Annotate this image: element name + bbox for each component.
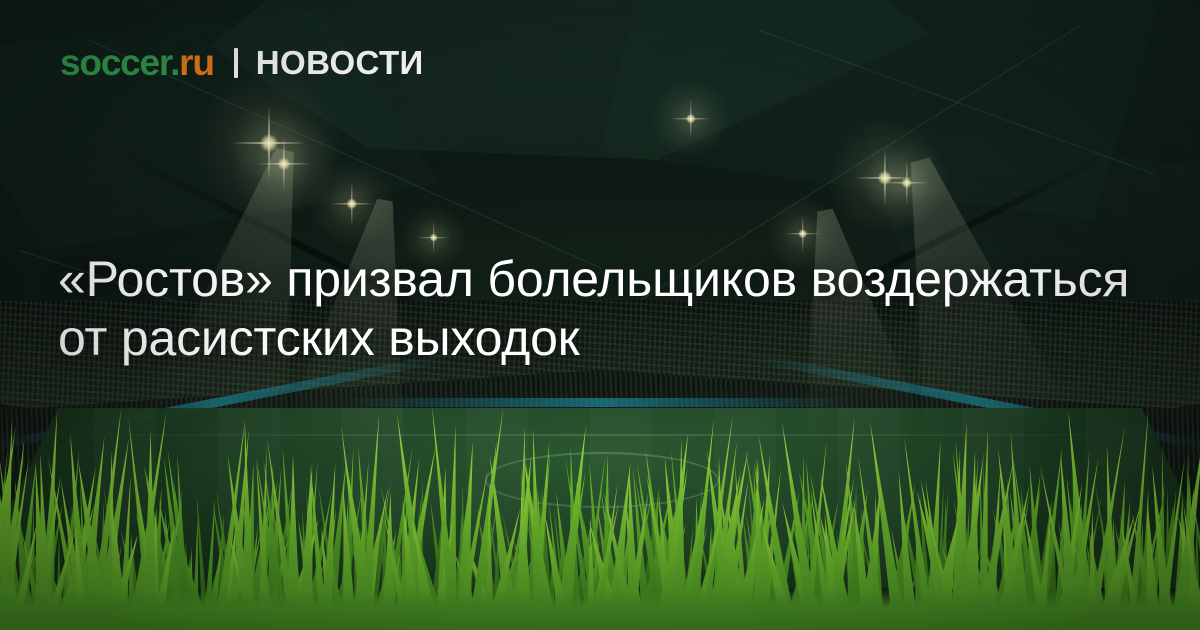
news-share-card: soccer.ru НОВОСТИ «Ростов» призвал болел… — [0, 0, 1200, 630]
section-label-news[interactable]: НОВОСТИ — [256, 46, 424, 79]
site-header: soccer.ru НОВОСТИ — [60, 44, 424, 81]
logo-text-primary: soccer. — [60, 42, 179, 83]
foreground-grass — [0, 380, 1200, 630]
header-separator-icon — [234, 48, 238, 78]
logo-text-accent: ru — [179, 42, 214, 83]
article-headline: «Ростов» призвал болельщиков воздержатьс… — [58, 250, 1148, 367]
grass-base — [0, 590, 1200, 630]
soccer-ru-logo[interactable]: soccer.ru — [60, 44, 214, 81]
